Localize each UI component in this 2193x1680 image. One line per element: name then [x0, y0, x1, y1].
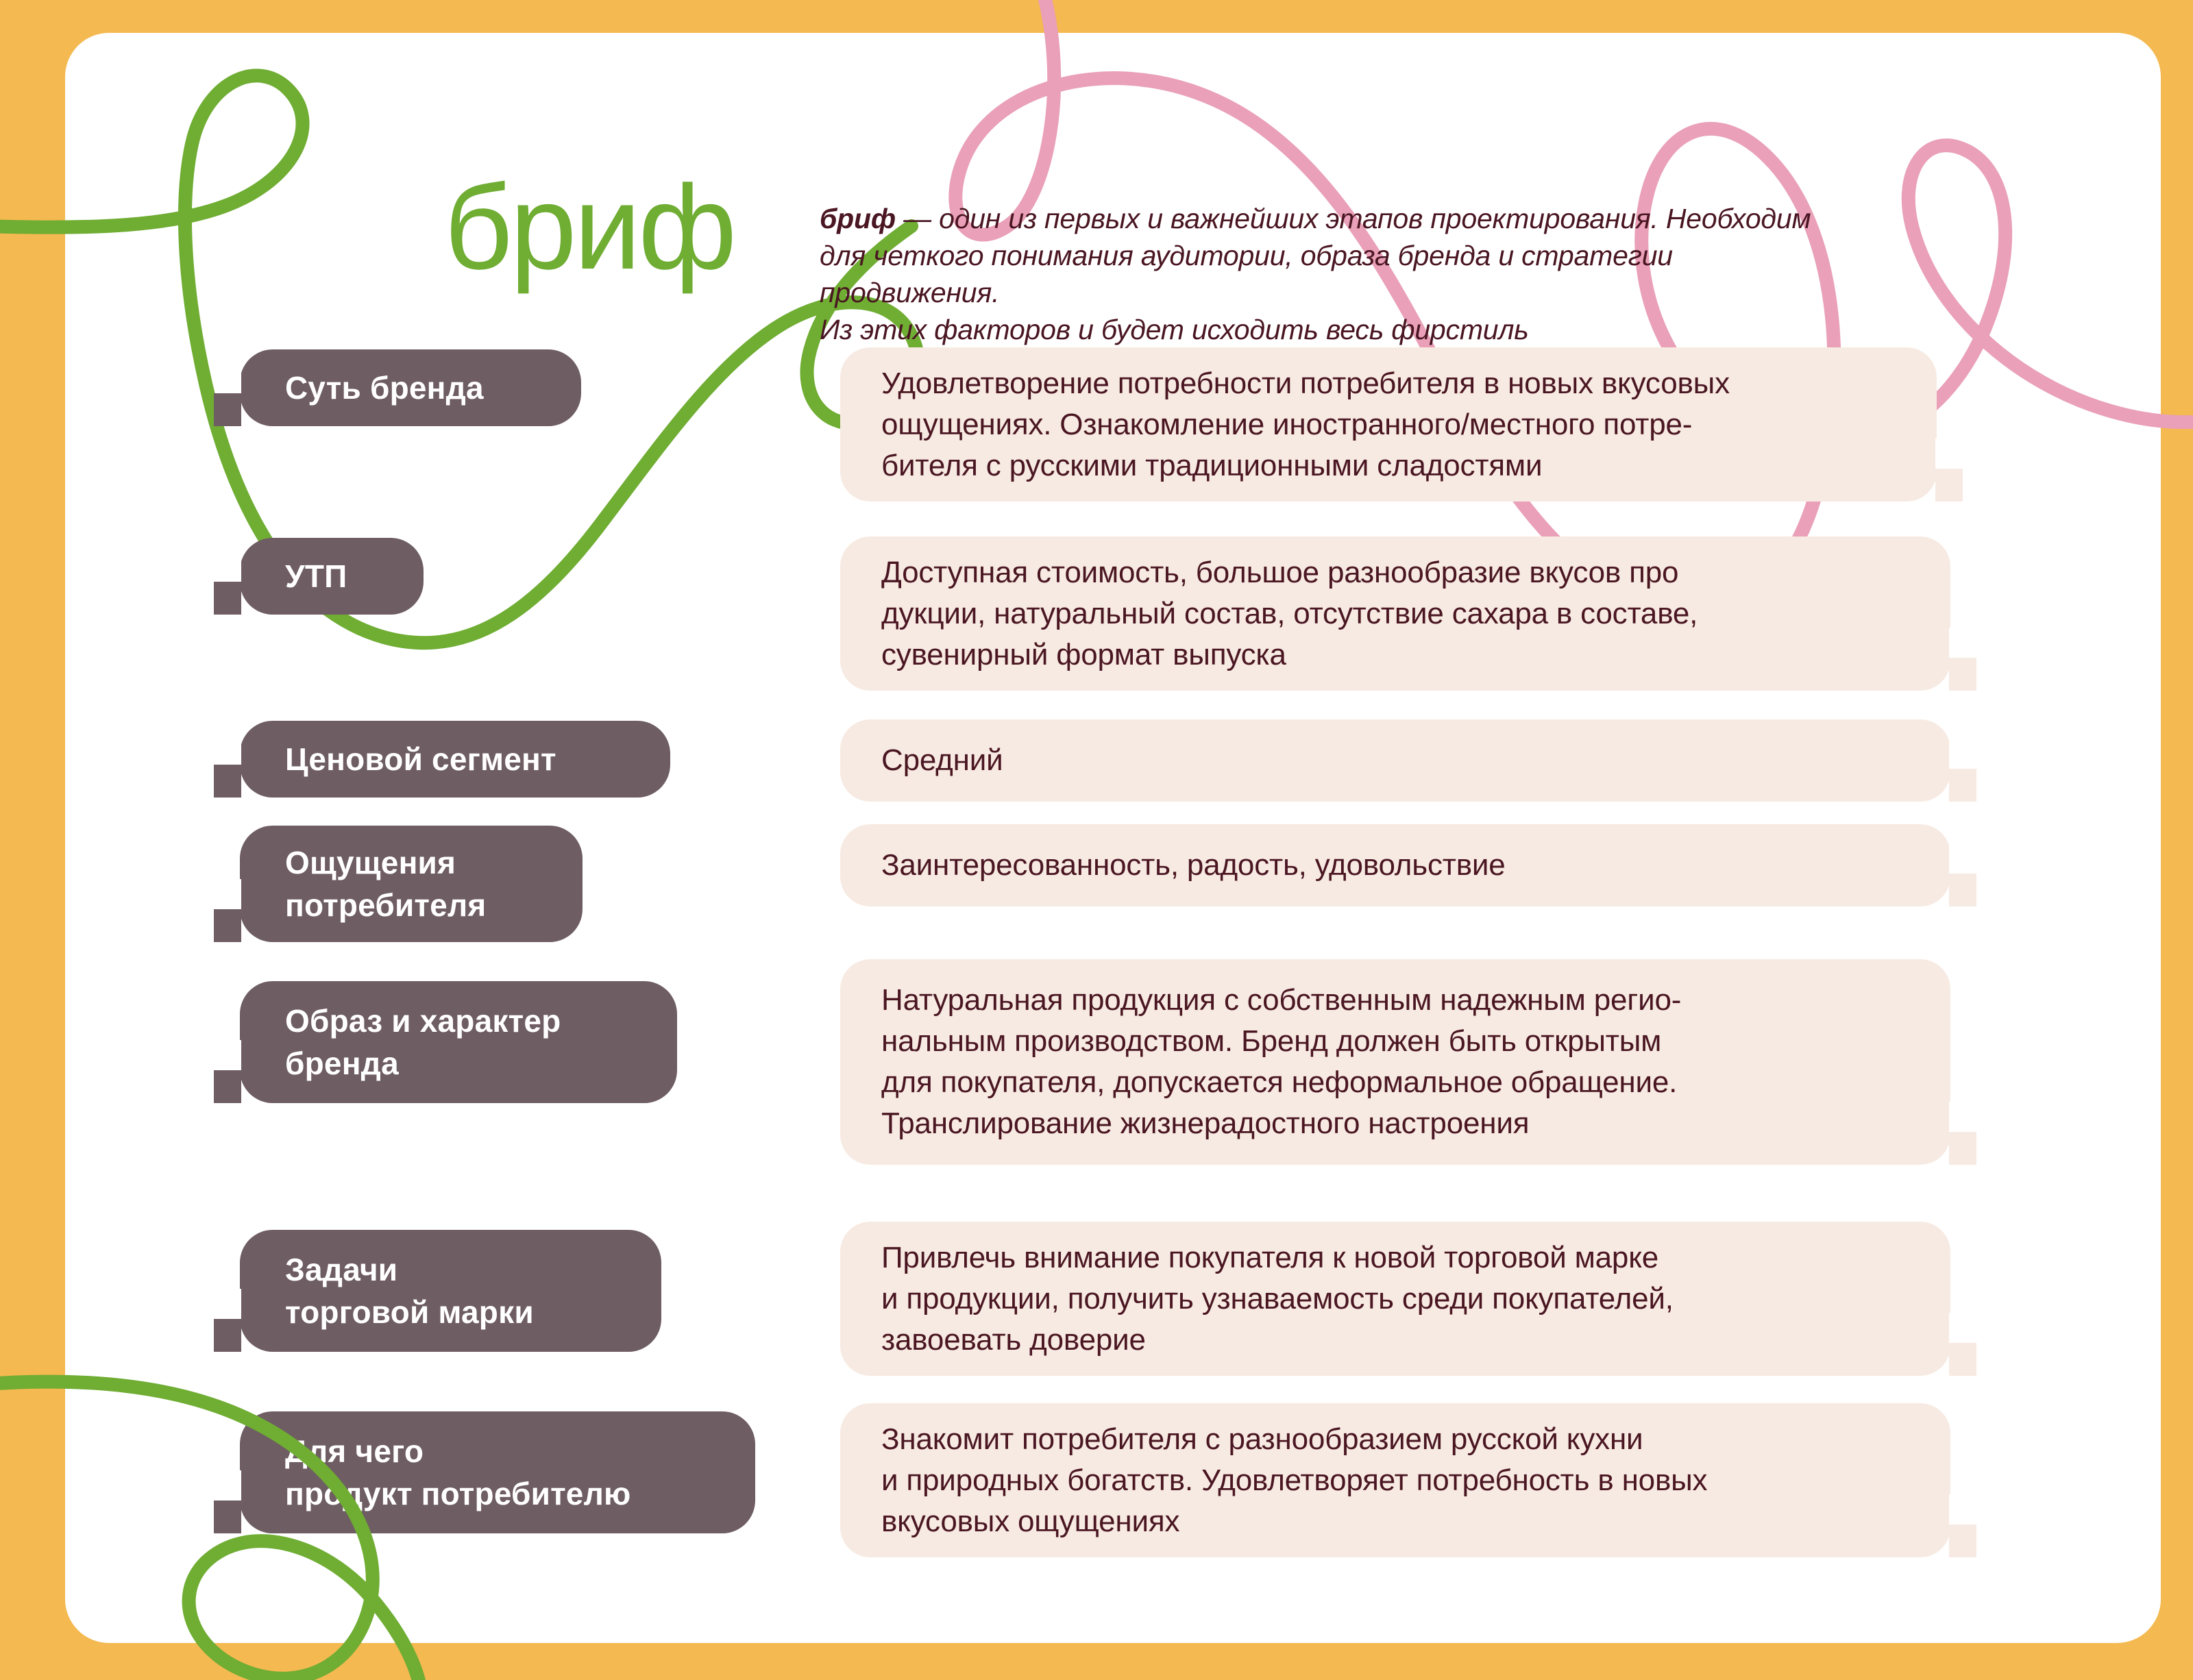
- label-bubble-brand-goals[interactable]: Задачи торговой марки: [240, 1230, 661, 1352]
- content-line: Транслирование жизнерадостного настроени…: [881, 1103, 1909, 1144]
- label-bubble-brand-image[interactable]: Образ и характер бренда: [240, 981, 677, 1103]
- label-line: продукт потребителю: [285, 1472, 631, 1515]
- content-layer: бриф бриф — один из первых и важнейших э…: [0, 0, 2193, 1680]
- content-line: для покупателя, допускается неформальное…: [881, 1062, 1909, 1103]
- content-line: нальным производством. Бренд должен быть…: [881, 1021, 1909, 1062]
- label-line: торговой марки: [285, 1291, 534, 1333]
- content-bubble-product-purpose: Знакомит потребителя с разнообразием рус…: [840, 1403, 1950, 1557]
- content-bubble-consumer-feelings: Заинтересованность, радость, удовольстви…: [840, 824, 1950, 906]
- content-line: Привлечь внимание покупателя к новой тор…: [881, 1237, 1909, 1278]
- content-line: Натуральная продукция с собственным наде…: [881, 980, 1909, 1021]
- label-line: Для чего: [285, 1430, 424, 1472]
- content-line: Удовлетворение потребности потребителя в…: [881, 363, 1896, 404]
- content-bubble-price-segment: Средний: [840, 719, 1950, 802]
- svg-text:бриф: бриф: [444, 161, 734, 295]
- label-line: потребителя: [285, 884, 486, 926]
- label-line: бренда: [285, 1042, 399, 1085]
- content-line: Средний: [881, 740, 1909, 781]
- label-bubble-product-purpose[interactable]: Для чего продукт потребителю: [240, 1411, 755, 1533]
- label-bubble-brand-essence[interactable]: Суть бренда: [240, 349, 581, 426]
- content-line: ощущениях. Ознакомление иностранного/мес…: [881, 404, 1896, 445]
- label-line: Задачи: [285, 1248, 397, 1291]
- label-line: УТП: [285, 555, 347, 597]
- label-line: Ценовой сегмент: [285, 738, 556, 780]
- logo-brief: бриф: [444, 159, 746, 303]
- intro-paragraph: бриф — один из первых и важнейших этапов…: [820, 200, 1841, 348]
- content-line: Доступная стоимость, большое разнообрази…: [881, 552, 1909, 593]
- intro-line-1: — один из первых и важнейших этапов прое…: [896, 203, 1811, 234]
- intro-lead: бриф: [820, 203, 896, 234]
- poster-canvas: бриф бриф — один из первых и важнейших э…: [0, 0, 2193, 1680]
- content-line: бителя с русскими традиционными сладостя…: [881, 445, 1896, 486]
- content-bubble-brand-goals: Привлечь внимание покупателя к новой тор…: [840, 1222, 1950, 1376]
- label-bubble-consumer-feelings[interactable]: Ощущения потребителя: [240, 826, 583, 942]
- intro-line-2: для четкого понимания аудитории, образа …: [820, 237, 1841, 311]
- content-line: и природных богатств. Удовлетворяет потр…: [881, 1460, 1909, 1501]
- content-bubble-brand-essence: Удовлетворение потребности потребителя в…: [840, 347, 1937, 502]
- content-line: завоевать доверие: [881, 1320, 1909, 1361]
- label-bubble-usp[interactable]: УТП: [240, 538, 424, 615]
- content-line: дукции, натуральный состав, отсутствие с…: [881, 593, 1909, 634]
- label-line: Ощущения: [285, 841, 456, 884]
- content-line: и продукции, получить узнаваемость среди…: [881, 1278, 1909, 1320]
- content-line: Знакомит потребителя с разнообразием рус…: [881, 1419, 1909, 1460]
- label-bubble-price-segment[interactable]: Ценовой сегмент: [240, 721, 670, 798]
- content-line: сувенирный формат выпуска: [881, 634, 1909, 676]
- content-line: вкусовых ощущениях: [881, 1501, 1909, 1542]
- intro-line-3: Из этих факторов и будет исходить весь ф…: [820, 311, 1841, 348]
- content-line: Заинтересованность, радость, удовольстви…: [881, 845, 1909, 886]
- label-line: Суть бренда: [285, 367, 484, 409]
- label-line: Образ и характер: [285, 1000, 561, 1042]
- content-bubble-brand-image: Натуральная продукция с собственным наде…: [840, 959, 1950, 1165]
- content-bubble-usp: Доступная стоимость, большое разнообрази…: [840, 536, 1950, 691]
